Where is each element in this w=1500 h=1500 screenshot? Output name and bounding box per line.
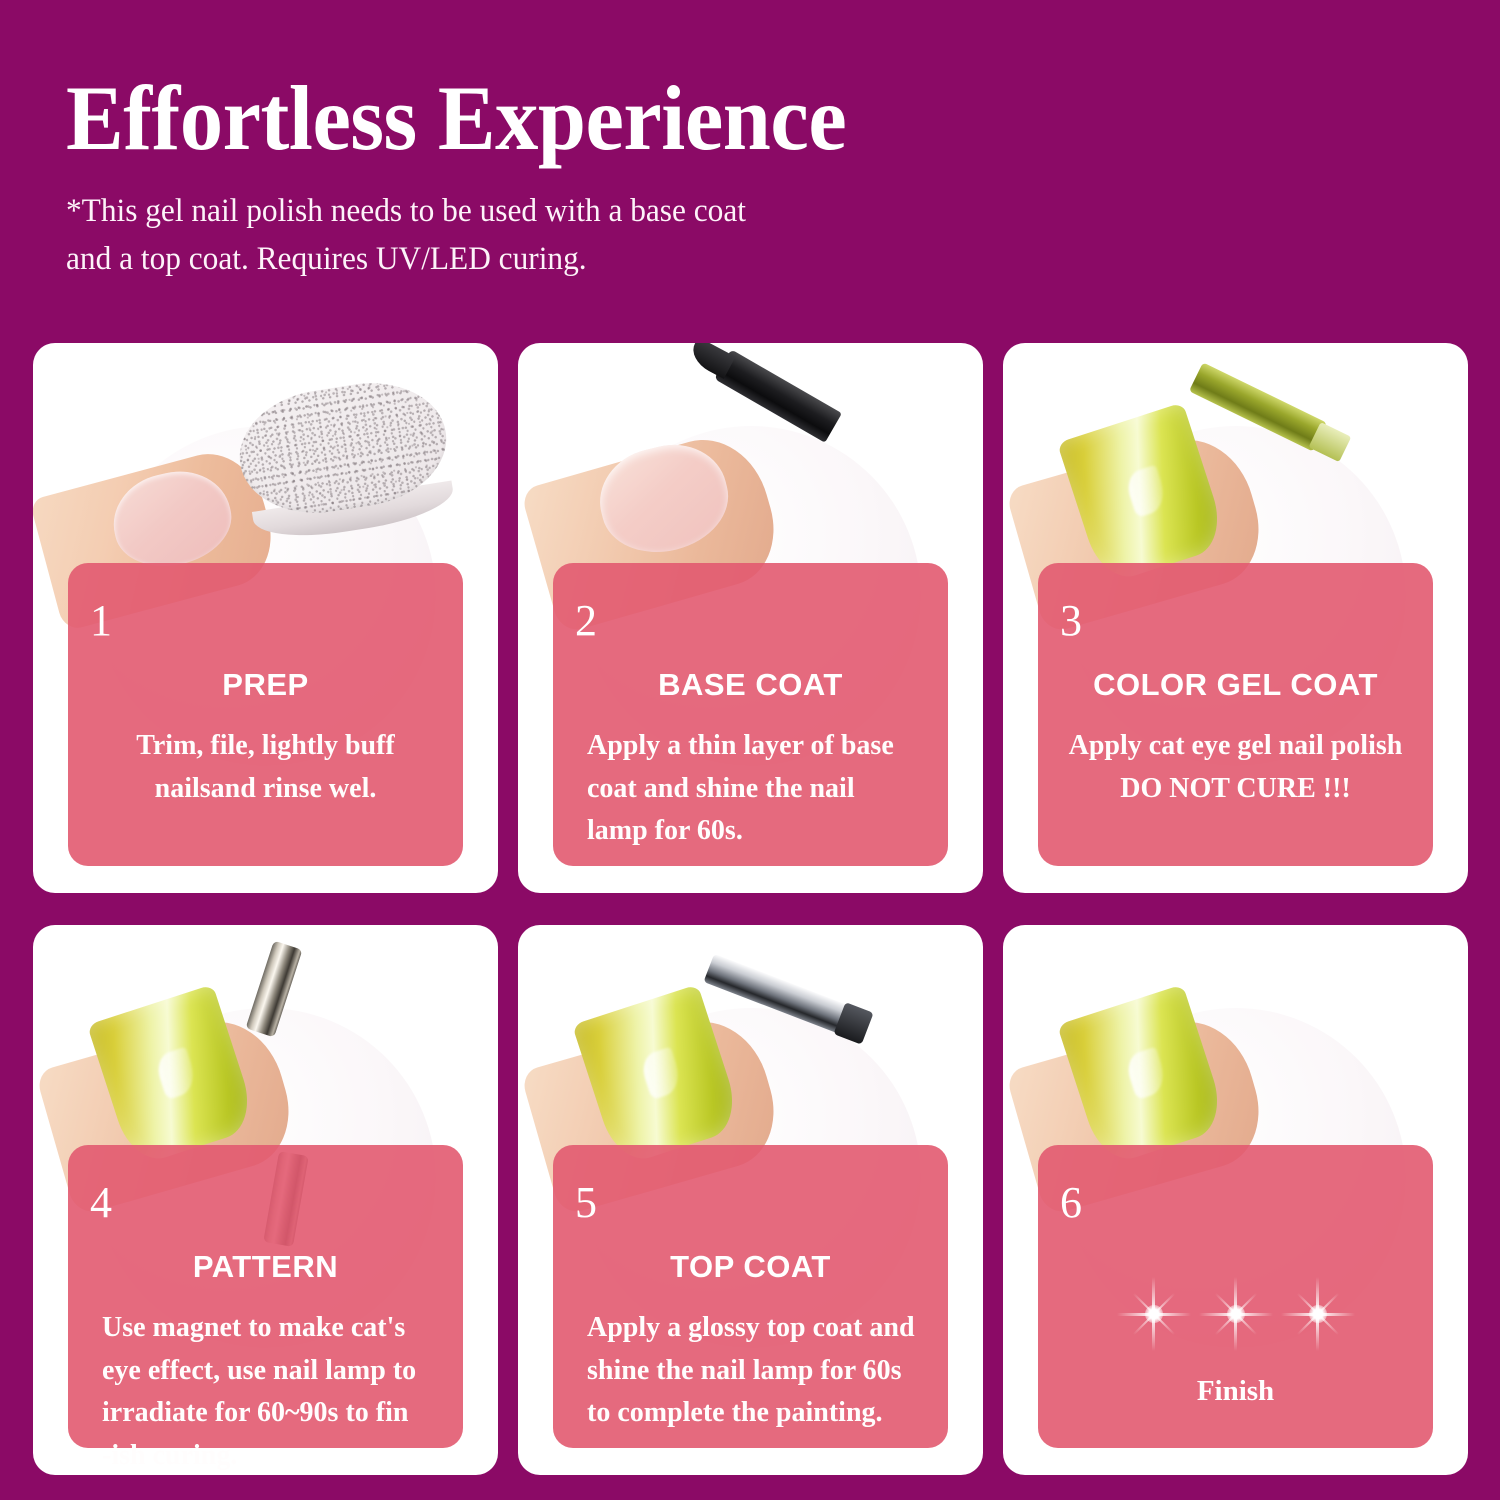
- steps-grid: 1 PREP Trim, file, lightly buff nailsand…: [33, 343, 1467, 1475]
- step-number: 5: [575, 1181, 597, 1225]
- step-description: Apply a thin layer of base coat and shin…: [579, 725, 922, 853]
- sparkle-star-icon: [1117, 1277, 1191, 1351]
- step-description: Trim, file, lightly buff nailsand rinse …: [94, 725, 437, 810]
- step-description: Use magnet to make cat's eye effect, use…: [94, 1307, 437, 1475]
- step-card-1[interactable]: 1 PREP Trim, file, lightly buff nailsand…: [33, 343, 498, 893]
- finish-block: Finish: [1117, 1277, 1355, 1408]
- step-card-2[interactable]: 2 BASE COAT Apply a thin layer of base c…: [518, 343, 983, 893]
- step-card-4[interactable]: 4 PATTERN Use magnet to make cat's eye e…: [33, 925, 498, 1475]
- step-panel: 3 COLOR GEL COAT Apply cat eye gel nail …: [1038, 563, 1433, 866]
- header: Effortless Experience *This gel nail pol…: [0, 0, 1500, 284]
- sparkle-star-icon: [1199, 1277, 1273, 1351]
- sparkle-star-icon: [1281, 1277, 1355, 1351]
- step-title: COLOR GEL COAT: [1093, 667, 1378, 703]
- step-description: Apply cat eye gel nail polish DO NOT CUR…: [1064, 725, 1407, 810]
- step-number: 4: [90, 1181, 112, 1225]
- step-panel: 6 Finish: [1038, 1145, 1433, 1448]
- page-subtitle: *This gel nail polish needs to be used w…: [66, 188, 1428, 284]
- step-title: PREP: [222, 667, 308, 703]
- step-panel: 2 BASE COAT Apply a thin layer of base c…: [553, 563, 948, 866]
- step-description: Apply a glossy top coat and shine the na…: [579, 1307, 922, 1435]
- step-number: 1: [90, 599, 112, 643]
- step-panel: 1 PREP Trim, file, lightly buff nailsand…: [68, 563, 463, 866]
- step-card-3[interactable]: 3 COLOR GEL COAT Apply cat eye gel nail …: [1003, 343, 1468, 893]
- step-panel: 4 PATTERN Use magnet to make cat's eye e…: [68, 1145, 463, 1448]
- page-title: Effortless Experience: [66, 72, 1414, 164]
- step-title: BASE COAT: [658, 667, 843, 703]
- sparkle-group: [1117, 1277, 1355, 1351]
- step-number: 6: [1060, 1181, 1082, 1225]
- step-card-6[interactable]: 6 Finish: [1003, 925, 1468, 1475]
- step-title: TOP COAT: [670, 1249, 831, 1285]
- step-panel: 5 TOP COAT Apply a glossy top coat and s…: [553, 1145, 948, 1448]
- step-number: 2: [575, 599, 597, 643]
- step-title: PATTERN: [193, 1249, 338, 1285]
- step-card-5[interactable]: 5 TOP COAT Apply a glossy top coat and s…: [518, 925, 983, 1475]
- step-number: 3: [1060, 599, 1082, 643]
- finish-label: Finish: [1197, 1375, 1274, 1408]
